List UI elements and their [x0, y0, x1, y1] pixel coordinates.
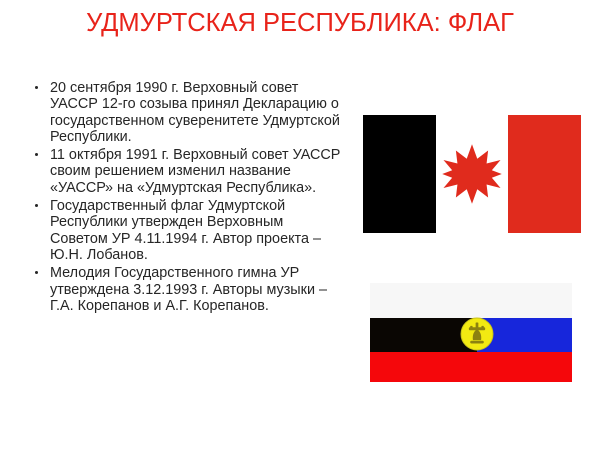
- bullet-dot-icon: [35, 153, 38, 156]
- bullet-item: Государственный флаг Удмуртской Республи…: [26, 198, 344, 263]
- flag-band-white: [436, 115, 508, 233]
- bullet-item: 20 сентября 1990 г. Верховный совет УАСС…: [26, 80, 344, 145]
- gold-disc-emblem-icon: [460, 317, 494, 351]
- bullet-text: 20 сентября 1990 г. Верховный совет УАСС…: [50, 80, 344, 145]
- assr-flag-stripe-white: [370, 283, 572, 318]
- bullet-item: 11 октября 1991 г. Верховный совет УАССР…: [26, 147, 344, 196]
- bullet-dot-icon: [35, 271, 38, 274]
- bullet-text: Мелодия Государственного гимна УР утверж…: [50, 265, 344, 314]
- presentation-slide: УДМУРТСКАЯ РЕСПУБЛИКА: ФЛАГ 20 сентября …: [0, 0, 600, 450]
- bullet-text: Государственный флаг Удмуртской Республи…: [50, 198, 344, 263]
- slide-title: УДМУРТСКАЯ РЕСПУБЛИКА: ФЛАГ: [30, 8, 570, 38]
- flag-band-red: [508, 115, 581, 233]
- bullet-item: Мелодия Государственного гимна УР утверж…: [26, 265, 344, 314]
- flag-band-black: [363, 115, 436, 233]
- assr-flag-stripe-red: [370, 352, 572, 382]
- bullet-text: 11 октября 1991 г. Верховный совет УАССР…: [50, 147, 344, 196]
- flag-of-udmurt-republic-image: [363, 115, 581, 233]
- bullet-dot-icon: [35, 86, 38, 89]
- eight-pointed-star-icon: [441, 143, 503, 205]
- slide-body-bullet-list: 20 сентября 1990 г. Верховный совет УАСС…: [26, 80, 344, 316]
- bullet-dot-icon: [35, 204, 38, 207]
- flag-of-udmurt-assr-image: [370, 283, 572, 382]
